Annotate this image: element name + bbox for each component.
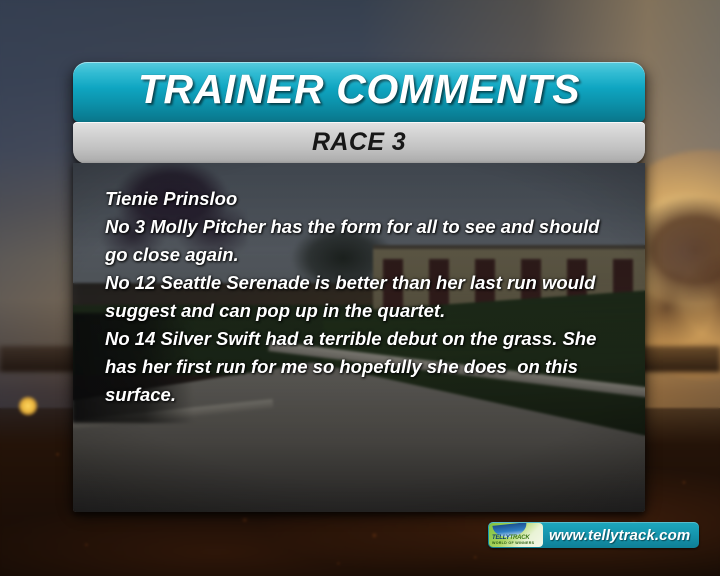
broadcast-screen: TRAINER COMMENTS RACE 3 Tienie Prinsloo … <box>0 0 720 576</box>
tellytrack-logo-icon: TELLYTRACK WORLD OF WINNERS <box>489 523 543 547</box>
race-number-label: RACE 3 <box>73 128 645 157</box>
trainer-comments-text: Tienie Prinsloo No 3 Molly Pitcher has t… <box>105 185 625 409</box>
panel-title-bar: TRAINER COMMENTS <box>73 62 645 122</box>
tellytrack-tagline: WORLD OF WINNERS <box>492 541 534 545</box>
page-title: TRAINER COMMENTS <box>73 66 645 113</box>
tellytrack-watermark[interactable]: TELLYTRACK WORLD OF WINNERS www.tellytra… <box>488 522 699 548</box>
panel-body: Tienie Prinsloo No 3 Molly Pitcher has t… <box>73 163 645 512</box>
trainer-comments-panel: TRAINER COMMENTS RACE 3 Tienie Prinsloo … <box>73 62 645 512</box>
panel-subtitle-bar: RACE 3 <box>73 122 645 164</box>
tellytrack-url-label[interactable]: www.tellytrack.com <box>549 527 690 544</box>
